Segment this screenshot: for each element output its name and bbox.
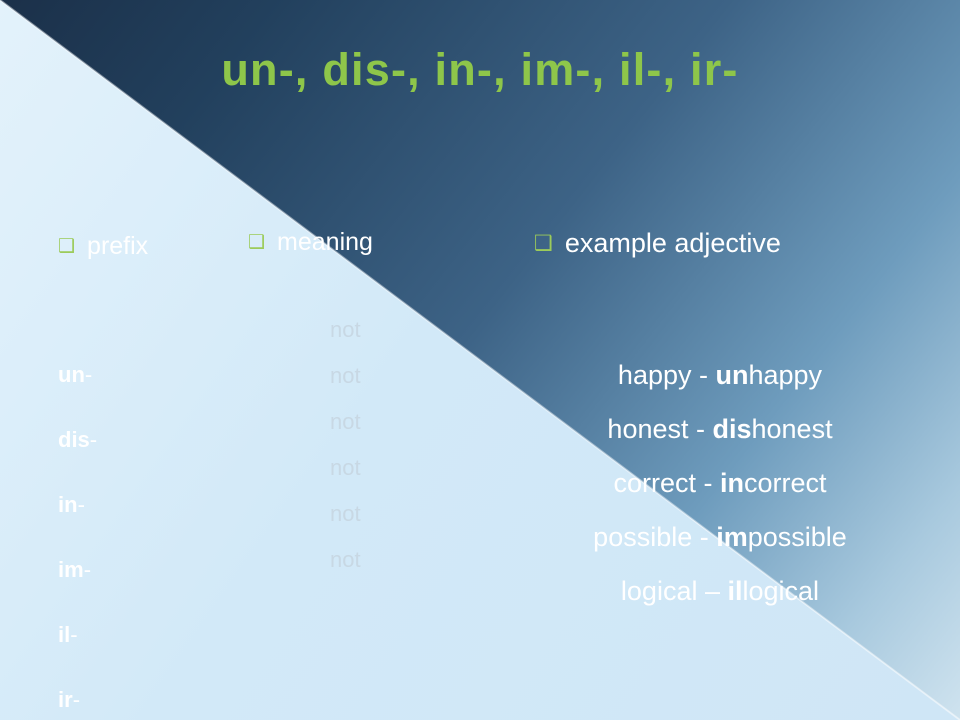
example-item: logical – illogical	[500, 574, 940, 608]
bullet-icon: ❑	[58, 237, 75, 256]
example-item: possible - impossible	[500, 520, 940, 554]
slide: un-, dis-, in-, im-, il-, ir- ❑ prefix ❑…	[0, 0, 960, 720]
column-header-meaning: ❑ meaning	[248, 228, 373, 257]
meaning-item: not	[330, 364, 460, 410]
example-item: correct - incorrect	[500, 466, 940, 500]
prefix-item: dis-	[58, 425, 228, 490]
prefix-item: ir-	[58, 685, 228, 720]
meaning-item: not	[330, 318, 460, 364]
example-item: happy - unhappy	[500, 358, 940, 392]
bullet-icon: ❑	[248, 233, 265, 252]
meaning-item: not	[330, 502, 460, 548]
prefix-item: im-	[58, 555, 228, 620]
column-header-example: ❑ example adjective	[534, 228, 781, 259]
example-item: honest - dishonest	[500, 412, 940, 446]
bullet-icon: ❑	[534, 233, 553, 254]
meaning-item: not	[330, 410, 460, 456]
prefix-item: il-	[58, 620, 228, 685]
column-header-example-label: example adjective	[565, 228, 781, 259]
column-header-meaning-label: meaning	[277, 228, 373, 257]
page-title: un-, dis-, in-, im-, il-, ir-	[0, 44, 960, 96]
meaning-item: not	[330, 456, 460, 502]
prefix-column: un- dis- in- im- il- ir-	[58, 360, 228, 720]
prefix-item: in-	[58, 490, 228, 555]
prefix-item: un-	[58, 360, 228, 425]
meaning-item: not	[330, 548, 460, 594]
meaning-column: not not not not not not	[330, 318, 460, 594]
column-header-prefix: ❑ prefix	[58, 232, 148, 261]
example-column: happy - unhappy honest - dishonest corre…	[500, 358, 940, 628]
column-header-prefix-label: prefix	[87, 232, 148, 261]
